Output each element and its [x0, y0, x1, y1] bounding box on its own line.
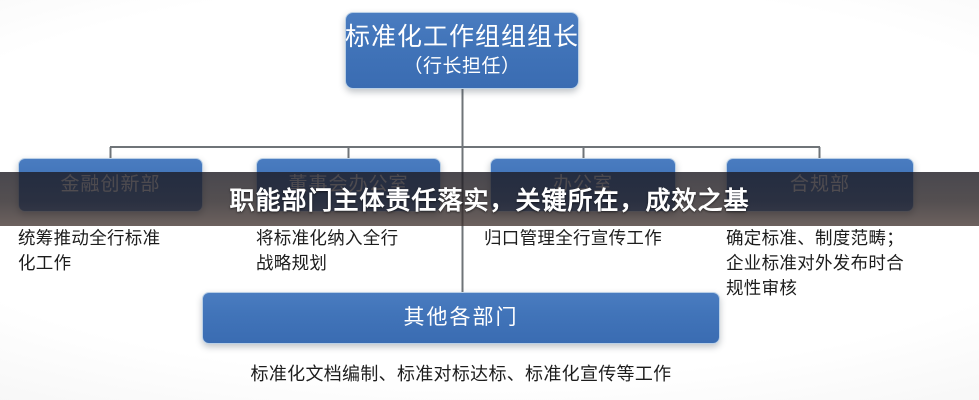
node-other-departments-title: 其他各部门: [404, 305, 519, 331]
node-chief[interactable]: 标准化工作组组组长 （行长担任）: [345, 12, 579, 89]
caption-department-0: 统筹推动全行标准 化工作: [18, 226, 218, 276]
caption-other-departments: 标准化文档编制、标准对标达标、标准化宣传等工作: [202, 362, 720, 388]
overlay-banner-title: 职能部门主体责任落实，关键所在，成效之基: [229, 181, 749, 217]
caption-department-1: 将标准化纳入全行 战略规划: [256, 226, 461, 276]
overlay-banner: 职能部门主体责任落实，关键所在，成效之基: [0, 172, 979, 226]
caption-department-2: 归口管理全行宣传工作: [484, 226, 714, 251]
node-chief-title: 标准化工作组组组长: [345, 22, 579, 53]
org-chart-slide: 标准化工作组组组长 （行长担任） 金融创新部 董事会办公室 办公室 合规部 统筹…: [0, 0, 979, 400]
caption-department-3: 确定标准、制度范畴； 企业标准对外发布时合 规性审核: [726, 226, 971, 301]
node-other-departments[interactable]: 其他各部门: [202, 292, 720, 344]
node-chief-subtitle: （行长担任）: [403, 55, 520, 79]
